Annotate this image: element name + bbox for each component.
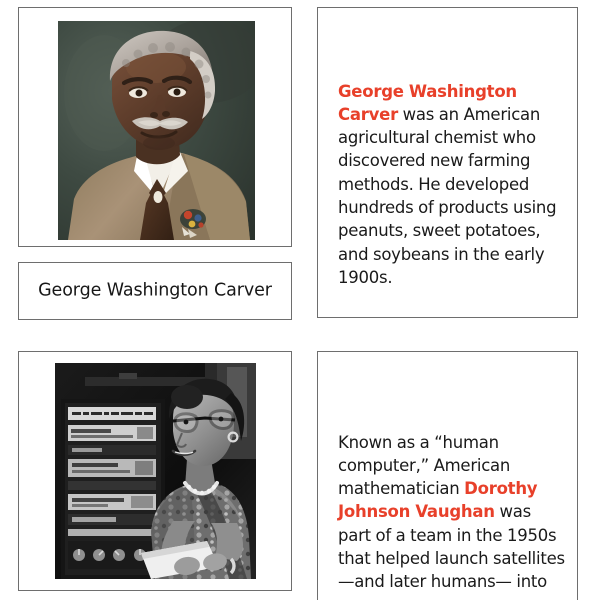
text-card-carver: George Washington Carver was an American…	[317, 7, 578, 318]
vaughan-photo-illustration	[55, 363, 256, 579]
photo-dorothy-johnson-vaughan	[55, 363, 256, 579]
carver-portrait-illustration	[58, 21, 255, 240]
carver-paragraph-rest: was an American agricultural chemist who…	[338, 105, 556, 287]
portrait-george-washington-carver	[58, 21, 255, 240]
photo-card-carver	[18, 7, 292, 247]
slide-canvas: George Washington Carver	[0, 0, 600, 600]
carver-paragraph: George Washington Carver was an American…	[338, 80, 563, 290]
vaughan-paragraph: Known as a “human computer,” American ma…	[338, 431, 566, 600]
text-card-vaughan: Known as a “human computer,” American ma…	[317, 351, 578, 600]
caption-card-carver: George Washington Carver	[18, 262, 292, 320]
photo-card-vaughan	[18, 351, 292, 591]
caption-label: George Washington Carver	[19, 281, 291, 302]
